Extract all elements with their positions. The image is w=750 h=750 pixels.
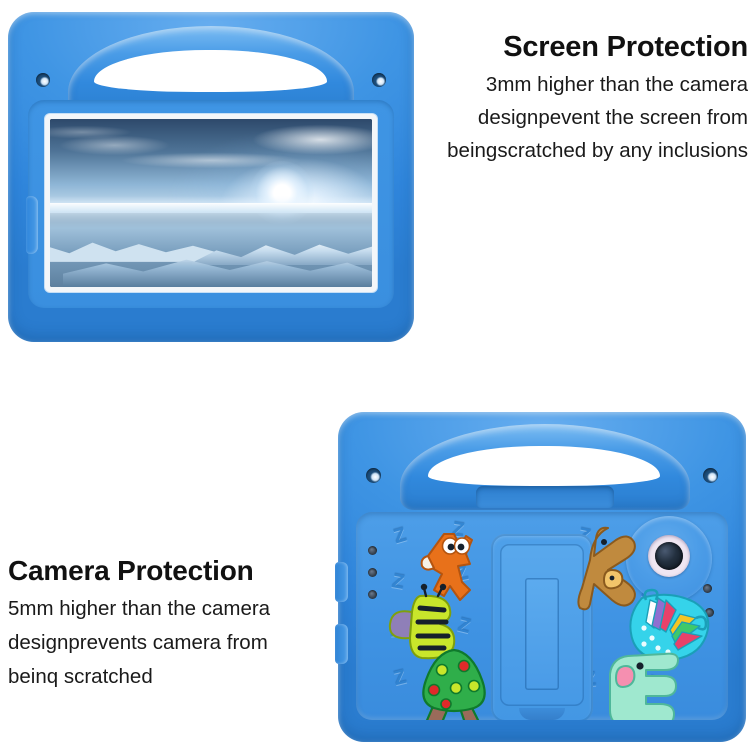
speaker-hole (368, 590, 377, 599)
callout-line: designprevents camera from (8, 631, 270, 655)
screw-hole-right (372, 73, 386, 87)
callout-line: beinq scratched (8, 665, 270, 689)
case-front-inner-frame (28, 100, 394, 308)
mountain-ridge-right (192, 237, 372, 266)
callout-line: 3mm higher than the camera (447, 73, 748, 97)
callout-title: Screen Protection (447, 32, 748, 64)
callout-title: Camera Protection (8, 556, 270, 587)
tablet-case-front (8, 12, 414, 342)
z-pattern-mark: Z (391, 525, 408, 548)
product-image-stage: Screen Protection 3mm higher than the ca… (0, 0, 750, 750)
tablet-case-back: Z Z Z Z Z Z Z Z Z Z Z Z Z Z Z Z (338, 412, 746, 742)
wallpaper-mountains (50, 203, 372, 287)
callout-line: beingscratched by any inclusions (447, 139, 748, 163)
figure-mint-elephant-letter-e (606, 652, 692, 720)
tablet-screen (50, 119, 372, 287)
side-button-pad-lower (335, 624, 348, 664)
callout-screen-protection: Screen Protection 3mm higher than the ca… (447, 32, 748, 163)
kickstand-grip-bar (525, 578, 559, 690)
side-button-cutout (26, 196, 38, 254)
callout-line: designpevent the screen from (447, 106, 748, 130)
speaker-hole (368, 568, 377, 577)
case-back-panel: Z Z Z Z Z Z Z Z Z Z Z Z Z Z Z Z (356, 512, 728, 720)
speaker-hole (368, 546, 377, 555)
screw-hole-right (703, 468, 718, 483)
callout-camera-protection: Camera Protection 5mm higher than the ca… (8, 556, 270, 689)
kickstand-release-tab[interactable] (519, 708, 565, 720)
z-pattern-mark: Z (392, 667, 409, 689)
callout-line: 5mm higher than the camera (8, 597, 270, 621)
figure-green-mushroom-letter-a (412, 648, 498, 720)
handle-hinge-pad (476, 486, 614, 508)
mountain-ridge-left (50, 237, 224, 262)
screw-hole-left (366, 468, 381, 483)
screw-hole-left (36, 73, 50, 87)
side-button-pad-upper (335, 562, 348, 602)
tablet-bezel (45, 114, 377, 292)
